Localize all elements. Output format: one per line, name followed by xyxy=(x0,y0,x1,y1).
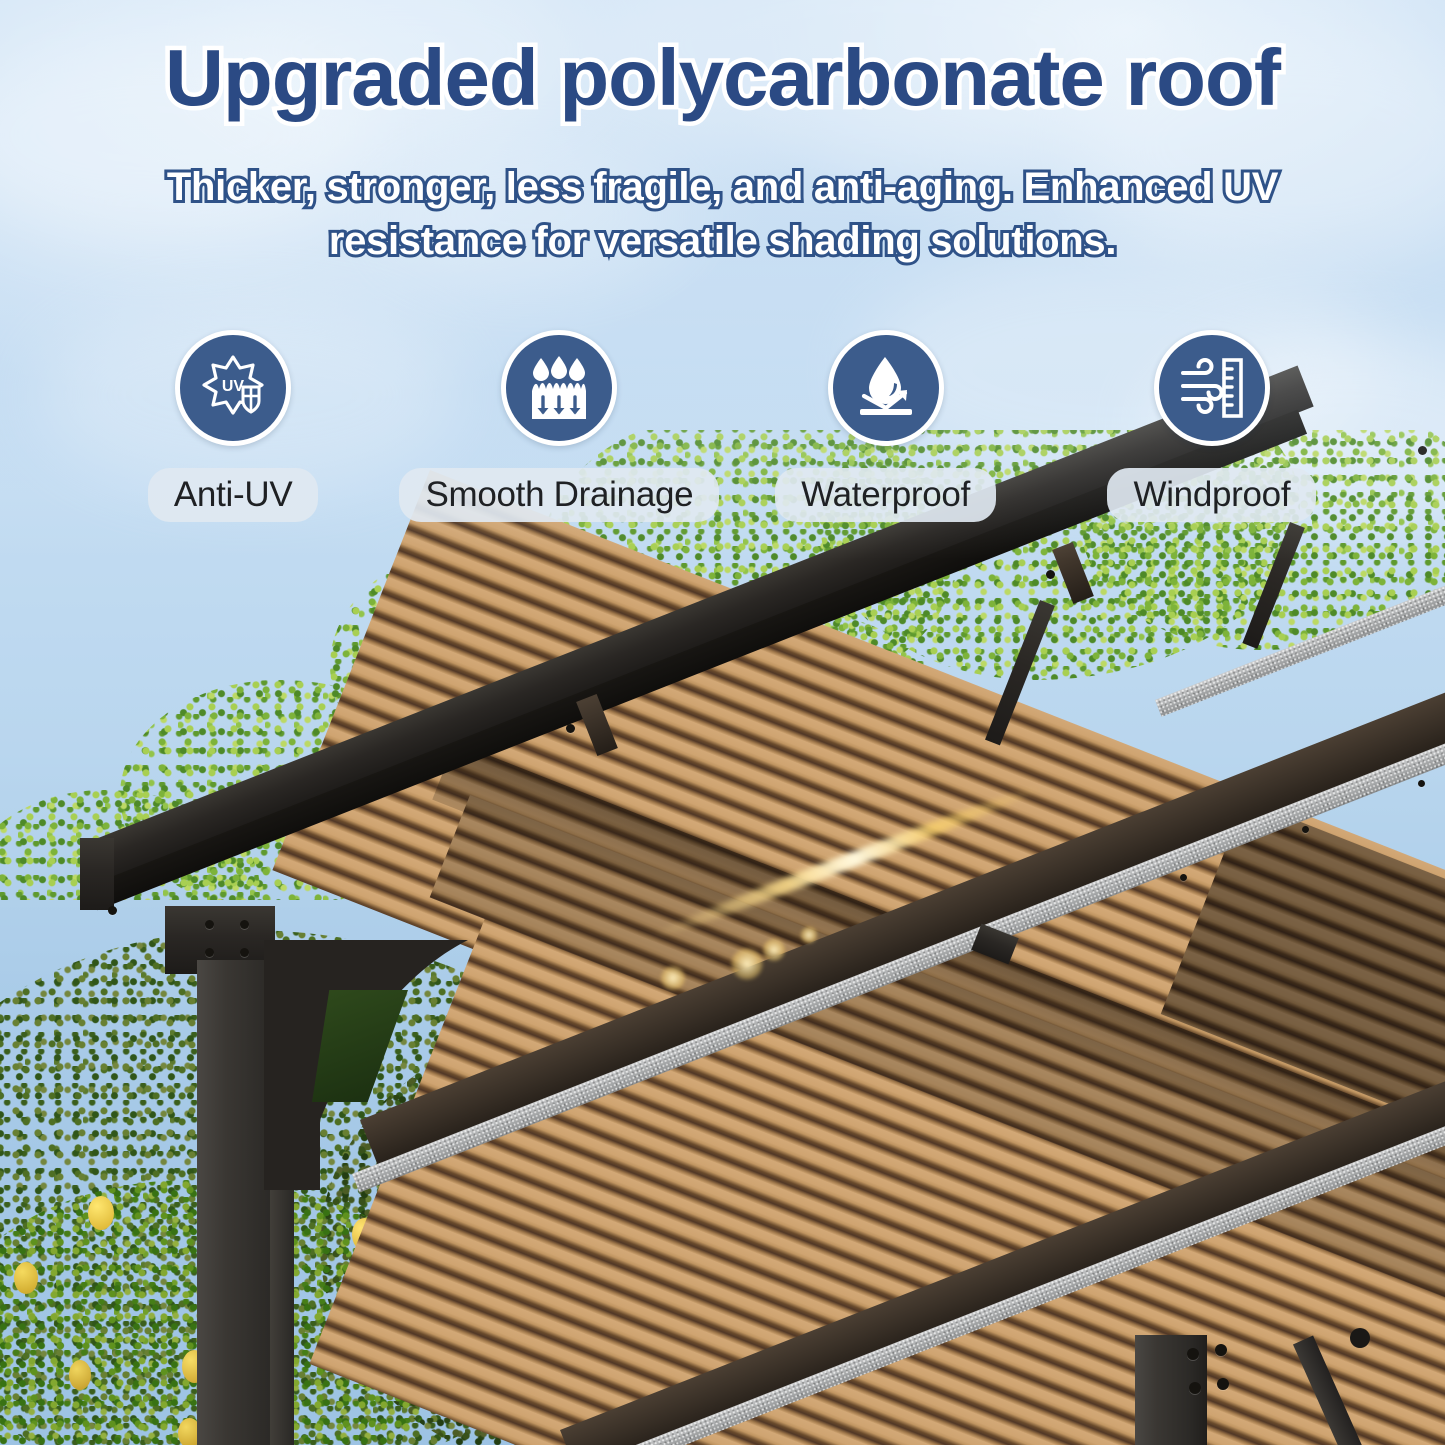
flare-orb xyxy=(800,926,818,944)
svg-text:UV: UV xyxy=(222,378,245,395)
beam-joint-plate xyxy=(1052,542,1094,604)
flare-orb xyxy=(730,947,764,981)
rail-bolt xyxy=(1180,874,1187,881)
bracket-bolt xyxy=(240,920,249,929)
beam-end-cap xyxy=(80,838,114,910)
feature-label: Waterproof xyxy=(775,468,996,522)
brace-pivot-bolt xyxy=(1350,1328,1370,1348)
mounting-rail xyxy=(1155,568,1445,717)
anti-uv-icon: UV xyxy=(196,351,270,425)
beam-bolt xyxy=(108,906,117,915)
bracket-bolt xyxy=(205,948,214,957)
bracket-bolt xyxy=(240,948,249,957)
beam-bolt xyxy=(1046,570,1055,579)
beam-bolt xyxy=(1215,1344,1227,1356)
beam-bolt xyxy=(1187,1348,1199,1360)
beam-bolt xyxy=(566,724,575,733)
feature-label: Smooth Drainage xyxy=(399,468,719,522)
anti-uv-badge[interactable]: UV xyxy=(175,330,291,446)
waterproof-icon xyxy=(849,351,923,425)
bracket-bolt xyxy=(205,920,214,929)
page-subtitle: Thicker, stronger, less fragile, and ant… xyxy=(103,160,1343,268)
rail-bolt xyxy=(1302,826,1309,833)
beam-bolt xyxy=(1217,1378,1229,1390)
feature-waterproof[interactable]: Waterproof xyxy=(761,330,1011,522)
feature-label: Anti-UV xyxy=(148,468,319,522)
feature-label: Windproof xyxy=(1107,468,1316,522)
roof-rafter xyxy=(1242,522,1305,649)
page-title: Upgraded polycarbonate roof xyxy=(0,38,1445,118)
flare-orb xyxy=(762,938,786,962)
beam-bolt xyxy=(1189,1382,1201,1394)
smooth-drainage-badge[interactable] xyxy=(501,330,617,446)
smooth-drainage-icon xyxy=(522,351,596,425)
flare-orb xyxy=(660,965,686,991)
windproof-badge[interactable] xyxy=(1154,330,1270,446)
windproof-icon xyxy=(1175,351,1249,425)
rail-bolt xyxy=(1418,780,1425,787)
feature-icon-row: UV Anti-UV xyxy=(0,330,1445,522)
feature-windproof[interactable]: Windproof xyxy=(1087,330,1337,522)
waterproof-badge[interactable] xyxy=(828,330,944,446)
feature-smooth-drainage[interactable]: Smooth Drainage xyxy=(434,330,684,522)
product-feature-banner: Upgraded polycarbonate roof Thicker, str… xyxy=(0,0,1445,1445)
feature-anti-uv[interactable]: UV Anti-UV xyxy=(108,330,358,522)
